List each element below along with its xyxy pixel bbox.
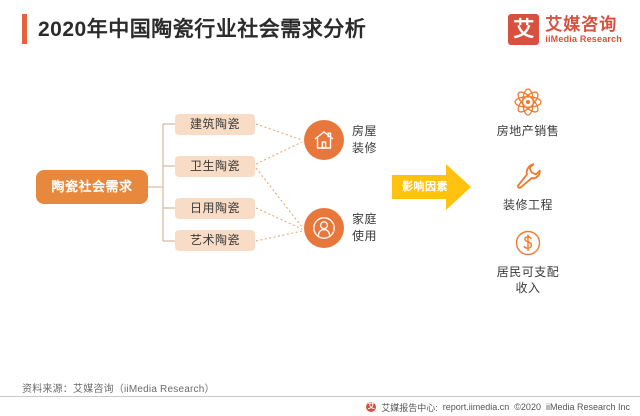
page-title: 2020年中国陶瓷行业社会需求分析: [38, 13, 366, 43]
factor-disposable-income[interactable]: 居民可支配 收入: [468, 225, 588, 296]
logo-name-cn: 艾媒咨询: [545, 15, 622, 34]
factor-label-income: 居民可支配 收入: [468, 264, 588, 296]
mid-node-family-use[interactable]: 家庭 使用: [304, 208, 377, 248]
mid-node-label-house: 房屋 装修: [352, 123, 377, 157]
logo-mark-icon: 艾: [508, 14, 539, 45]
logo-text: 艾媒咨询 iiMedia Research: [545, 15, 622, 45]
footer-url[interactable]: report.iimedia.cn: [443, 402, 510, 412]
dollar-circle-icon: [468, 225, 588, 261]
mid-node-label-family: 家庭 使用: [352, 211, 377, 245]
logo-name-en: iiMedia Research: [545, 34, 622, 45]
root-node-social-demand[interactable]: 陶瓷社会需求: [36, 170, 148, 204]
category-box-architectural[interactable]: 建筑陶瓷: [175, 114, 255, 135]
house-icon: [304, 120, 344, 160]
factor-real-estate-sales[interactable]: 房地产销售: [468, 84, 588, 139]
footer-bar: 艾 艾媒报告中心: report.iimedia.cn ©2020 iiMedi…: [0, 398, 640, 416]
brand-logo: 艾 艾媒咨询 iiMedia Research: [508, 14, 622, 45]
footer-badge-icon: 艾: [366, 402, 376, 412]
wrench-icon: [468, 158, 588, 194]
factor-label-renovation: 装修工程: [468, 197, 588, 213]
influence-arrow-label: 影响因素: [396, 178, 454, 194]
footer-divider: [0, 396, 640, 397]
factor-label-real-estate: 房地产销售: [468, 123, 588, 139]
atom-icon: [468, 84, 588, 120]
person-icon: [304, 208, 344, 248]
footer-company: iiMedia Research Inc: [546, 402, 630, 412]
category-box-artistic[interactable]: 艺术陶瓷: [175, 230, 255, 251]
footer-copyright: ©2020: [514, 402, 541, 412]
slide-canvas: 2020年中国陶瓷行业社会需求分析 艾 艾媒咨询 iiMedia Researc…: [0, 0, 640, 416]
category-box-sanitary[interactable]: 卫生陶瓷: [175, 156, 255, 177]
source-note: 资料来源：艾媒咨询（iiMedia Research）: [22, 380, 215, 395]
factor-renovation-projects[interactable]: 装修工程: [468, 158, 588, 213]
footer-report-center-label: 艾媒报告中心:: [381, 401, 438, 414]
category-box-daily-use[interactable]: 日用陶瓷: [175, 198, 255, 219]
title-accent-bar: [22, 14, 27, 44]
mid-node-house-renovation[interactable]: 房屋 装修: [304, 120, 377, 160]
